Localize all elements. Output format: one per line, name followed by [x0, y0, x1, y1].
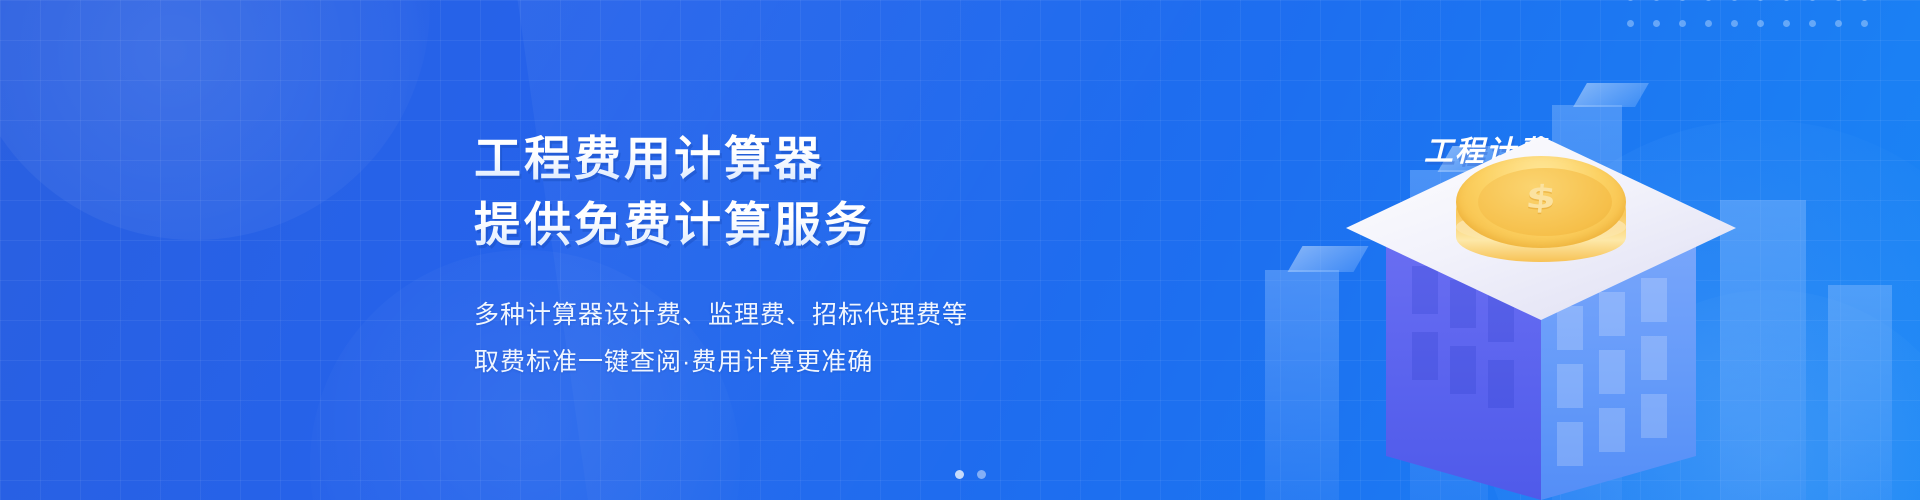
carousel-indicator[interactable]	[0, 470, 1920, 479]
banner-headline-line-2: 提供免费计算服务	[474, 194, 1194, 256]
carousel-dot-1[interactable]	[955, 470, 964, 479]
hero-banner: 工程费用计算器 提供免费计算服务 多种计算器设计费、监理费、招标代理费等 取费标…	[0, 0, 1920, 500]
banner-copy: 工程费用计算器 提供免费计算服务 多种计算器设计费、监理费、招标代理费等 取费标…	[474, 128, 1194, 386]
decorative-circle-top-left	[0, 0, 430, 240]
gold-coin-icon: $	[1452, 156, 1632, 306]
background-bar-5	[1828, 285, 1892, 500]
banner-subtitle-line-2: 取费标准一键查阅·费用计算更准确	[474, 339, 1194, 386]
banner-headline-line-1: 工程费用计算器	[474, 128, 1194, 190]
background-bar-1	[1265, 270, 1339, 500]
carousel-dot-2[interactable]	[977, 470, 986, 479]
background-bar-top-3	[1573, 83, 1649, 107]
dollar-symbol-icon: $	[1454, 179, 1628, 216]
coin-top-face: $	[1456, 156, 1626, 248]
banner-subtitle-line-1: 多种计算器设计费、监理费、招标代理费等	[474, 292, 1194, 339]
banner-illustration: 工程计费	[1160, 0, 1920, 500]
